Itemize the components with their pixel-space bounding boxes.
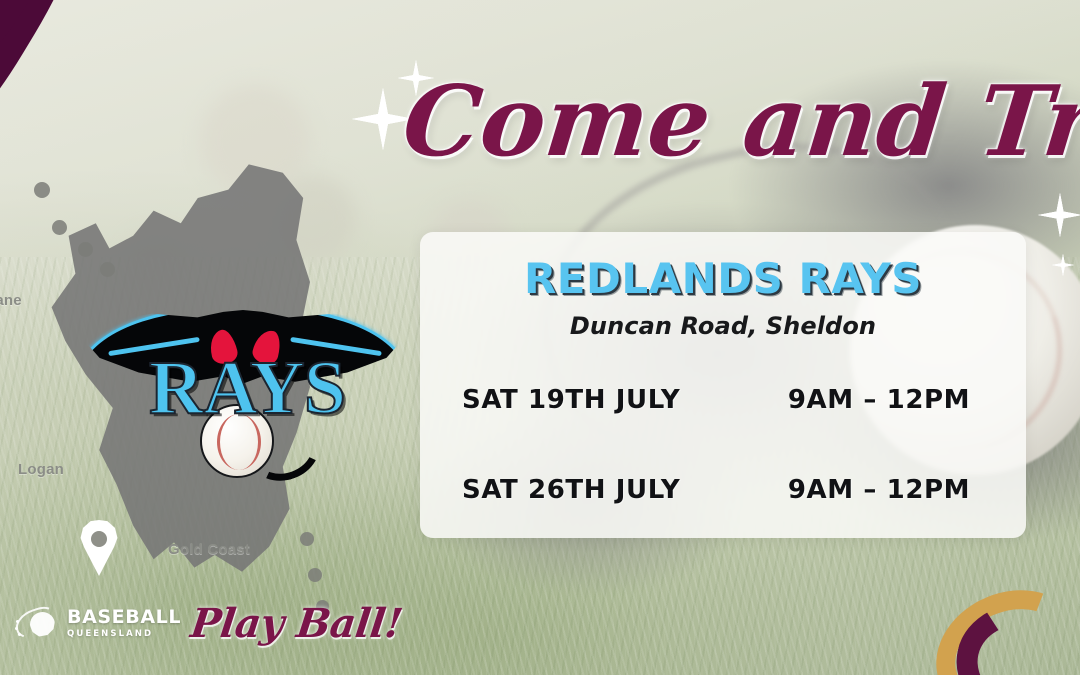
session-date: SAT 26TH JULY — [462, 475, 772, 505]
map-boundary-dot — [52, 220, 67, 235]
map-pin-hole — [91, 531, 107, 547]
rays-club-logo: RAYS — [78, 300, 408, 470]
poster: bane Logan Gold Coast RAYS Come and Try … — [0, 0, 1080, 675]
map-label-brisbane: bane — [0, 292, 22, 309]
page-title: Come and Try — [399, 72, 1080, 171]
org-name: BASEBALL — [67, 608, 181, 627]
motion-dot-icon — [15, 627, 18, 630]
play-ball-tagline: Play Ball! — [188, 600, 405, 647]
session-time: 9AM – 12PM — [772, 385, 986, 415]
map-boundary-dot — [34, 182, 50, 198]
session-row: SAT 19TH JULY 9AM – 12PM — [420, 370, 1026, 430]
map-pin-body — [78, 520, 120, 576]
rays-wordmark: RAYS — [102, 354, 392, 422]
motion-dot-icon — [16, 620, 19, 623]
map-boundary-dot — [308, 568, 322, 582]
session-list: SAT 19TH JULY 9AM – 12PM SAT 26TH JULY 9… — [420, 370, 1026, 520]
baseball-queensland-text: BASEBALL QUEENSLAND — [67, 608, 181, 639]
baseball-queensland-logo: BASEBALL QUEENSLAND — [14, 608, 181, 640]
footer-branding: BASEBALL QUEENSLAND Play Ball! — [14, 600, 402, 647]
org-state: QUEENSLAND — [67, 630, 181, 639]
map-boundary-dot — [100, 262, 115, 277]
session-date: SAT 19TH JULY — [462, 385, 772, 415]
motion-dot-icon — [18, 633, 21, 636]
map-pin-icon — [78, 520, 120, 576]
map-label-gold-coast: Gold Coast — [168, 541, 250, 558]
map-label-logan: Logan — [18, 461, 64, 478]
session-time: 9AM – 12PM — [772, 475, 986, 505]
club-address: Duncan Road, Sheldon — [420, 312, 1026, 340]
baseball-swoosh-icon — [14, 608, 60, 640]
brush-swirl-decoration — [870, 527, 1080, 675]
session-row: SAT 26TH JULY 9AM – 12PM — [420, 460, 1026, 520]
club-name: REDLANDS RAYS — [420, 254, 1026, 303]
map-boundary-dot — [78, 242, 93, 257]
baseball-mark-icon — [30, 612, 55, 637]
map-boundary-dot — [300, 532, 314, 546]
event-info-card: REDLANDS RAYS Duncan Road, Sheldon SAT 1… — [420, 232, 1026, 538]
